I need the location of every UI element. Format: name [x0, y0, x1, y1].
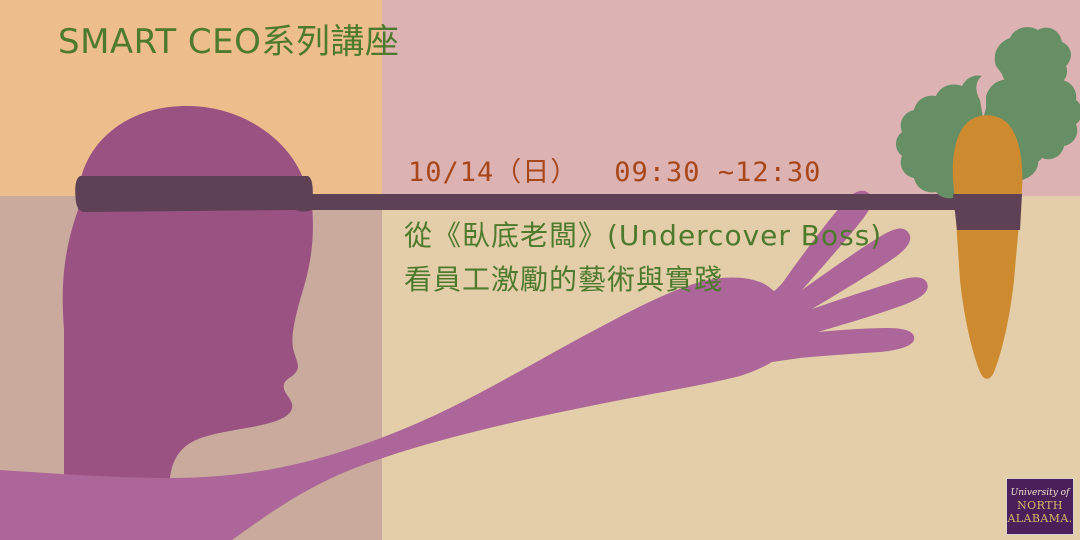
event-date: 10/14（日） [408, 157, 578, 188]
talk-title-line-2: 看員工激勵的藝術與實踐 [404, 258, 882, 302]
talk-title: 從《臥底老闆》(Undercover Boss) 看員工激勵的藝術與實踐 [404, 214, 882, 302]
page-title: SMART CEO系列講座 [58, 14, 399, 63]
logo-line-university-of: University of [1011, 488, 1070, 499]
poster-canvas: SMART CEO系列講座 10/14（日）09:30 ~12:30 從《臥底老… [0, 0, 1080, 540]
logo-line-north: NORTH [1017, 499, 1063, 512]
talk-title-line-1: 從《臥底老闆》(Undercover Boss) [404, 214, 882, 258]
event-datetime: 10/14（日）09:30 ~12:30 [408, 150, 821, 189]
university-logo: University of NORTH ALABAMA. [1006, 478, 1074, 535]
logo-line-alabama: ALABAMA. [1007, 512, 1072, 525]
background-quadrant-bottom-left [0, 196, 382, 540]
event-time: 09:30 ~12:30 [614, 157, 821, 188]
